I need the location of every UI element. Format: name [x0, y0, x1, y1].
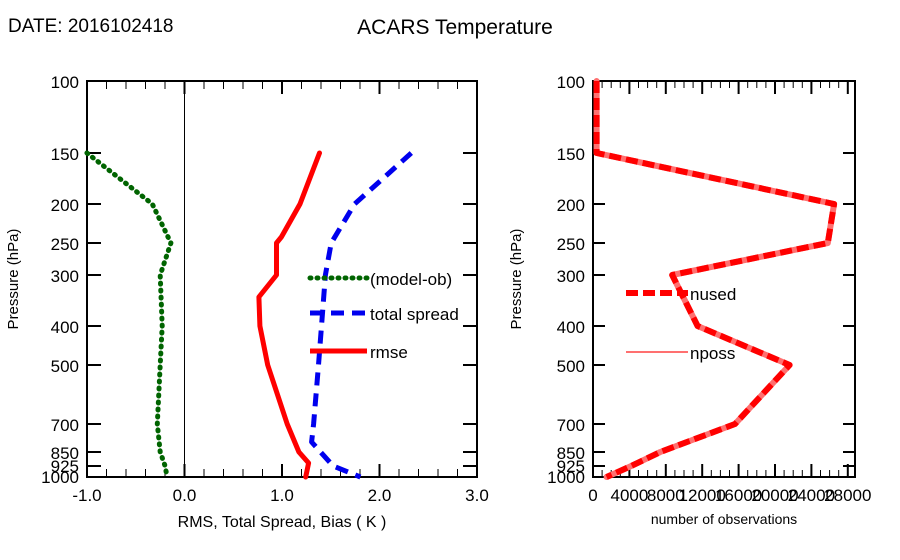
- right-ytick-700: 700: [557, 416, 585, 435]
- series-model-ob: [87, 153, 171, 477]
- acars-temperature-figure: DATE: 2016102418 ACARS Temperature: [0, 0, 900, 560]
- right-ytick-1000: 1000: [547, 468, 585, 487]
- left-y-axis-label: Pressure (hPa): [5, 229, 22, 330]
- left-legend: (model-ob) total spread rmse: [310, 270, 459, 362]
- series-nposs: [597, 81, 835, 477]
- left-ytick-150: 150: [51, 145, 79, 164]
- right-panel: 100 150 200 250 300 400 500 700 850 925 …: [508, 73, 871, 527]
- left-x-axis-label: RMS, Total Spread, Bias ( K ): [178, 514, 387, 531]
- right-xtick-0: 0: [588, 486, 597, 505]
- left-panel: 100 150 200 250 300 400 500 700 850 925 …: [5, 73, 489, 531]
- right-ytick-300: 300: [557, 267, 585, 286]
- left-ytick-500: 500: [51, 357, 79, 376]
- legend-label-rmse: rmse: [370, 343, 408, 362]
- legend-label-model-ob: (model-ob): [370, 270, 452, 289]
- left-ytick-100: 100: [51, 73, 79, 92]
- page-title: ACARS Temperature: [357, 16, 553, 39]
- right-ytick-150: 150: [557, 145, 585, 164]
- right-ytick-200: 200: [557, 196, 585, 215]
- left-ytick-250: 250: [51, 235, 79, 254]
- series-nused: [597, 81, 835, 477]
- left-ytick-700: 700: [51, 416, 79, 435]
- left-xtick-2: 2.0: [368, 486, 392, 505]
- right-ytick-100: 100: [557, 73, 585, 92]
- left-xtick-m1: -1.0: [72, 486, 101, 505]
- left-xtick-0: 0.0: [173, 486, 197, 505]
- right-x-ticks: [593, 81, 848, 477]
- right-plot-frame: [593, 81, 855, 477]
- right-x-axis-label: number of observations: [651, 511, 797, 527]
- legend-label-total-spread: total spread: [370, 305, 459, 324]
- left-ytick-300: 300: [51, 267, 79, 286]
- right-xtick-4000: 4000: [610, 486, 648, 505]
- legend-label-nposs: nposs: [690, 344, 735, 363]
- right-ytick-500: 500: [557, 357, 585, 376]
- right-ytick-400: 400: [557, 318, 585, 337]
- right-xtick-28000: 28000: [824, 486, 871, 505]
- plot-canvas: DATE: 2016102418 ACARS Temperature: [0, 0, 900, 560]
- left-ytick-400: 400: [51, 318, 79, 337]
- left-ytick-1000: 1000: [41, 468, 79, 487]
- date-label: DATE: 2016102418: [8, 16, 174, 37]
- left-ytick-200: 200: [51, 196, 79, 215]
- left-xtick-1: 1.0: [270, 486, 294, 505]
- right-y-ticks: [593, 81, 855, 477]
- right-y-axis-label: Pressure (hPa): [508, 229, 525, 330]
- legend-label-nused: nused: [690, 285, 736, 304]
- right-ytick-250: 250: [557, 235, 585, 254]
- left-xtick-3: 3.0: [465, 486, 489, 505]
